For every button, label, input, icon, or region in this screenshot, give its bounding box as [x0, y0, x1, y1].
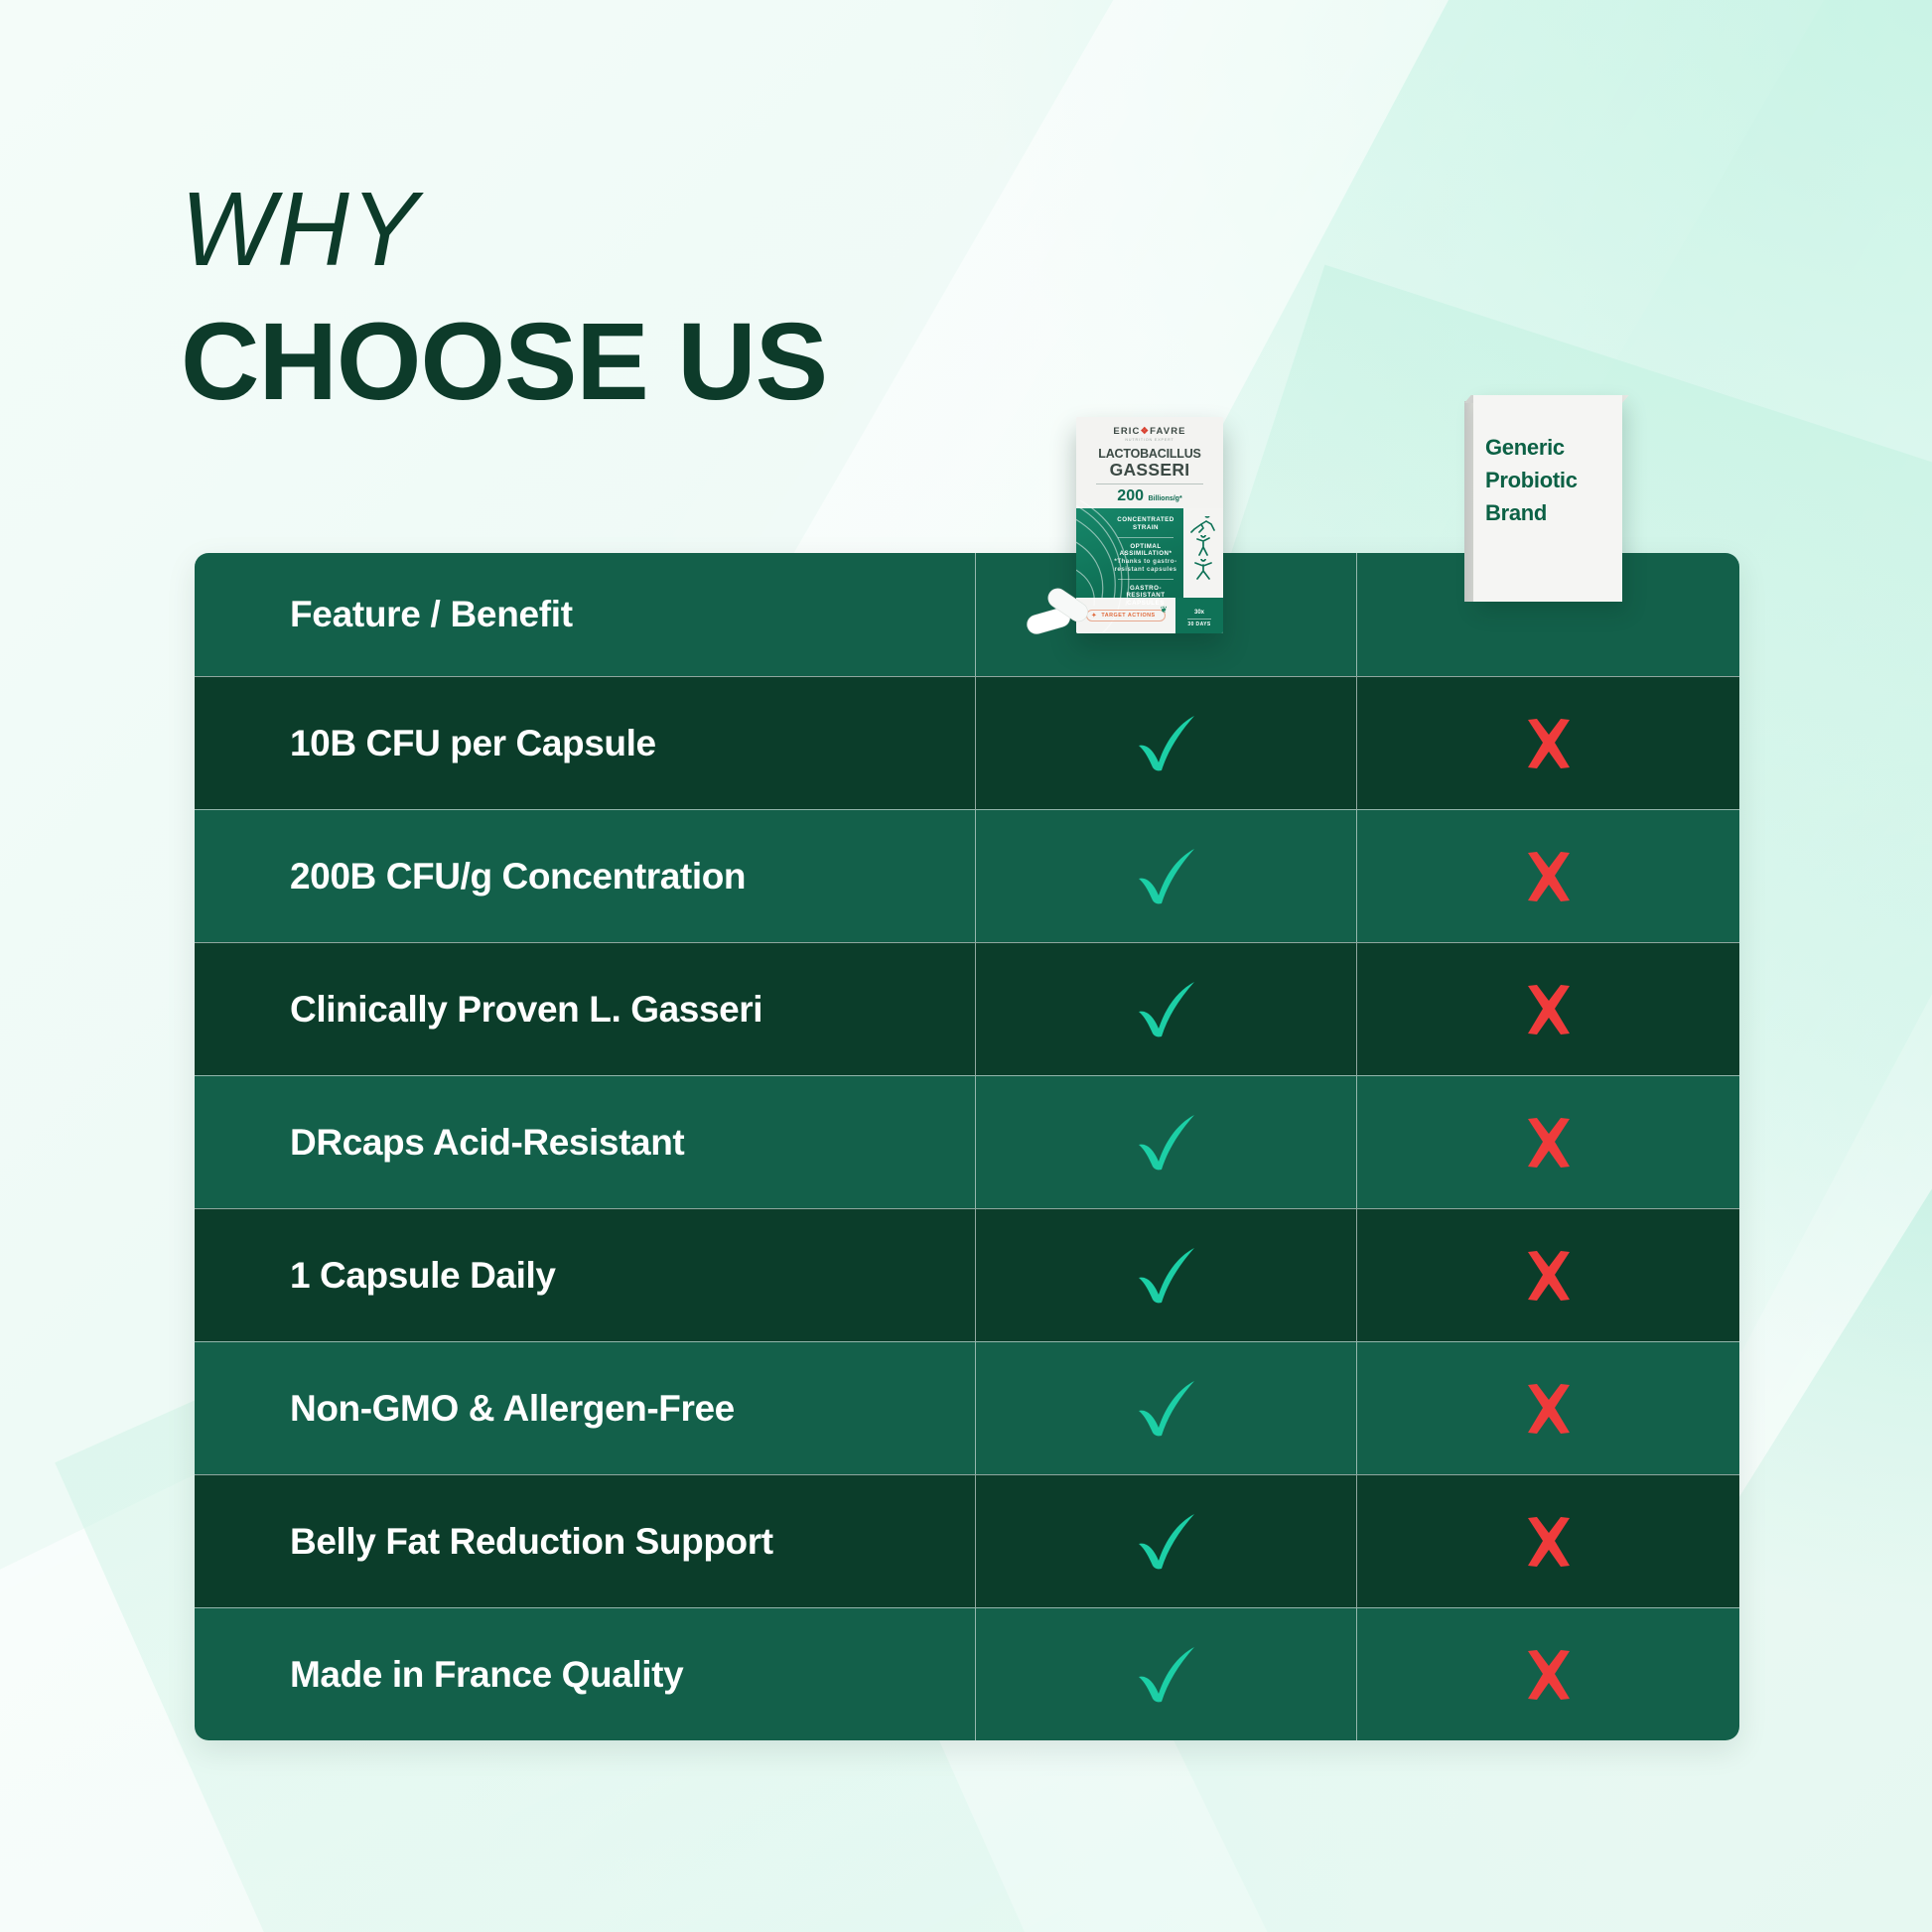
cell-feature: Belly Fat Reduction Support [195, 1475, 976, 1607]
product-box-face: Generic Probiotic Brand [1473, 395, 1622, 602]
product-box-mid-panel: CONCENTRATED STRAIN OPTIMAL ASSIMILATION… [1076, 508, 1223, 598]
cell-feature: Clinically Proven L. Gasseri [195, 943, 976, 1075]
cell-ours [976, 943, 1357, 1075]
feature-1-line-2: STRAIN [1112, 524, 1179, 532]
cell-ours [976, 810, 1357, 942]
feature-label: Belly Fat Reduction Support [290, 1521, 773, 1563]
feature-label: 200B CFU/g Concentration [290, 856, 746, 897]
capsule-count-value: 30 [1194, 610, 1201, 616]
product-features: CONCENTRATED STRAIN OPTIMAL ASSIMILATION… [1112, 516, 1179, 608]
cell-feature: 1 Capsule Daily [195, 1209, 976, 1341]
cell-feature: 10B CFU per Capsule [195, 677, 976, 809]
table-row: Made in France Quality [195, 1607, 1739, 1740]
table-row: Non-GMO & Allergen-Free [195, 1341, 1739, 1474]
target-actions-label: TARGET ACTIONS [1101, 613, 1155, 619]
divider [1096, 483, 1203, 484]
cell-ours [976, 1475, 1357, 1607]
product-box-top-panel: ERIC❖FAVRE NUTRITION EXPERT LACTOBACILLU… [1076, 417, 1223, 508]
check-icon [1133, 713, 1200, 774]
table-row: 1 Capsule Daily [195, 1208, 1739, 1341]
cell-competitor [1357, 810, 1739, 942]
check-icon [1133, 1511, 1200, 1573]
generic-label-line-1: Generic [1485, 431, 1610, 464]
cell-feature: DRcaps Acid-Resistant [195, 1076, 976, 1208]
cross-icon [1521, 716, 1577, 771]
cell-ours [976, 1209, 1357, 1341]
feature-2-line-2: ASSIMILATION* [1112, 550, 1179, 558]
divider [1118, 537, 1173, 538]
cell-ours [976, 677, 1357, 809]
feature-label: Non-GMO & Allergen-Free [290, 1388, 735, 1430]
cell-ours [976, 1076, 1357, 1208]
table-row: Belly Fat Reduction Support [195, 1474, 1739, 1607]
check-icon [1133, 1378, 1200, 1440]
product-name-line-1: LACTOBACILLUS [1084, 448, 1215, 461]
brand-name-second: FAVRE [1150, 426, 1185, 437]
feature-label: Made in France Quality [290, 1654, 683, 1696]
feature-3-line-2: CAPSULES [1112, 600, 1179, 608]
divider [1118, 579, 1173, 580]
athlete-figures [1187, 514, 1219, 583]
cell-competitor [1357, 1342, 1739, 1474]
table-row: DRcaps Acid-Resistant [195, 1075, 1739, 1208]
cross-icon [1521, 1248, 1577, 1304]
figure-dance-icon [1192, 535, 1214, 557]
feature-2-line-1: OPTIMAL [1112, 543, 1179, 551]
headline-line-2: CHOOSE US [181, 308, 827, 417]
table-row: 200B CFU/g Concentration [195, 809, 1739, 942]
cell-feature: 200B CFU/g Concentration [195, 810, 976, 942]
cell-competitor [1357, 943, 1739, 1075]
figure-jump-icon [1191, 559, 1215, 581]
check-icon [1133, 846, 1200, 907]
capsule-count-unit: x [1201, 610, 1204, 616]
feature-2-note: *Thanks to gastro-resistant capsules [1112, 558, 1179, 574]
check-icon [1133, 1112, 1200, 1173]
generic-label-line-3: Brand [1485, 496, 1610, 529]
table-row: 10B CFU per Capsule [195, 676, 1739, 809]
cross-icon [1521, 982, 1577, 1037]
feature-label: Clinically Proven L. Gasseri [290, 989, 762, 1031]
page-title: WHY CHOOSE US [181, 177, 827, 417]
header-cell-feature: Feature / Benefit [195, 553, 976, 676]
cell-competitor [1357, 677, 1739, 809]
feature-label: 1 Capsule Daily [290, 1255, 556, 1297]
comparison-table: Feature / Benefit 10B CFU per Capsule 20… [195, 553, 1739, 1740]
cross-icon [1521, 1381, 1577, 1437]
cell-competitor [1357, 1209, 1739, 1341]
cell-ours [976, 1608, 1357, 1740]
table-row: Clinically Proven L. Gasseri [195, 942, 1739, 1075]
days-supply: 30 DAYS [1187, 619, 1210, 627]
brand-name-first: ERIC [1113, 426, 1140, 437]
cross-icon [1521, 1514, 1577, 1570]
check-icon [1133, 979, 1200, 1040]
product-name-line-2: GASSERI [1084, 462, 1215, 480]
cross-icon [1521, 849, 1577, 904]
capsule-count-area: 30x 30 DAYS [1175, 598, 1223, 633]
cell-competitor [1357, 1475, 1739, 1607]
capsules-graphic [1025, 588, 1104, 647]
feature-label: 10B CFU per Capsule [290, 723, 656, 764]
capsule-count: 30x [1194, 604, 1204, 616]
brand-logo: ERIC❖FAVRE [1084, 426, 1215, 437]
headline-line-1: WHY [181, 177, 795, 282]
cross-icon [1521, 1115, 1577, 1171]
product-box-generic: Generic Probiotic Brand [1473, 395, 1622, 602]
brand-tagline: NUTRITION EXPERT [1084, 438, 1215, 442]
feature-1-line-1: CONCENTRATED [1112, 516, 1179, 524]
cell-ours [976, 1342, 1357, 1474]
brand-flame-icon: ❖ [1141, 426, 1151, 437]
generic-label-line-2: Probiotic [1485, 464, 1610, 496]
feature-label: DRcaps Acid-Resistant [290, 1122, 684, 1164]
leaf-icon: ❦ [1160, 605, 1168, 616]
header-label-feature: Feature / Benefit [290, 594, 573, 635]
check-icon [1133, 1245, 1200, 1307]
feature-3-line-1: GASTRO-RESISTANT [1112, 585, 1179, 601]
cell-competitor [1357, 1608, 1739, 1740]
cross-icon [1521, 1647, 1577, 1703]
cell-feature: Non-GMO & Allergen-Free [195, 1342, 976, 1474]
check-icon [1133, 1644, 1200, 1706]
figure-stretch-icon [1190, 516, 1216, 533]
cell-competitor [1357, 1076, 1739, 1208]
cell-feature: Made in France Quality [195, 1608, 976, 1740]
